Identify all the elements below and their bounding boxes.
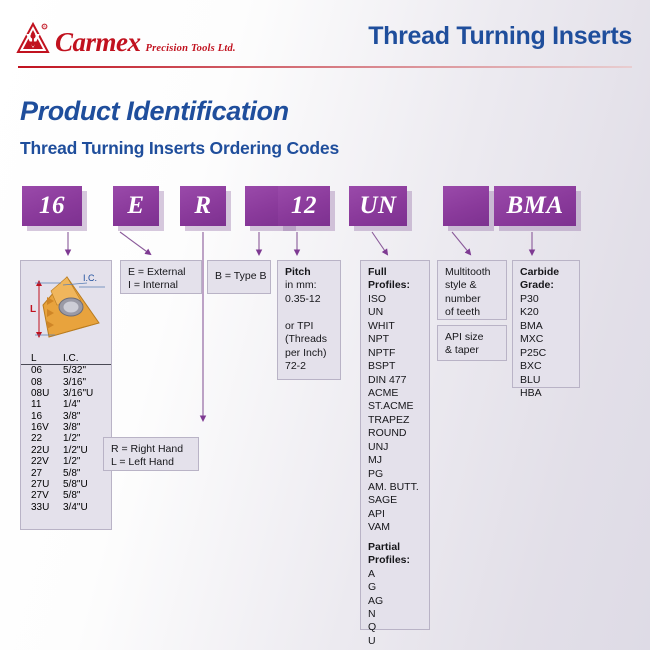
table-row: 08U3/16"U <box>21 388 111 399</box>
ic-row-ic: 3/16" <box>57 376 111 387</box>
carmex-triangle-logo-icon: R <box>16 22 50 56</box>
multitooth-line: style & <box>445 279 500 292</box>
profiles-partial-title-1: Partial <box>368 541 423 554</box>
header-divider <box>18 66 632 68</box>
code-box-pitch[interactable]: 12 <box>278 186 330 226</box>
ic-row-ic: 3/4"U <box>57 502 111 513</box>
partial-profile-item: AG <box>368 595 423 608</box>
full-profile-item: ACME <box>368 387 423 400</box>
hand-type-line-1: E = External <box>128 266 195 279</box>
pitch-line: or TPI <box>285 320 334 333</box>
detail-box-direction: R = Right Hand L = Left Hand <box>103 437 199 471</box>
ic-row-l: 27 <box>21 467 57 478</box>
ic-row-ic: 3/16"U <box>57 388 111 399</box>
svg-text:I.C.: I.C. <box>83 273 97 283</box>
code-box-size[interactable]: 16 <box>22 186 82 226</box>
table-row: 27V5/8" <box>21 490 111 501</box>
detail-box-hand-type: E = External I = Internal <box>120 260 202 294</box>
carmex-logo: R Carmex Precision Tools Ltd. <box>16 22 236 56</box>
page-header: R Carmex Precision Tools Ltd. Thread Tur… <box>0 0 650 72</box>
direction-line-1: R = Right Hand <box>111 443 192 456</box>
profiles-partial-title-2: Profiles: <box>368 554 423 567</box>
ic-row-l: 27V <box>21 490 57 501</box>
full-profile-item: AM. BUTT. <box>368 481 423 494</box>
code-box-hand-type[interactable]: E <box>113 186 159 226</box>
full-profile-item: API <box>368 508 423 521</box>
ic-row-l: 06 <box>21 365 57 377</box>
multitooth-line: Multitooth <box>445 266 500 279</box>
hand-type-line-2: I = Internal <box>128 279 195 292</box>
table-row: 111/4" <box>21 399 111 410</box>
brand-subtitle: Precision Tools Ltd. <box>146 44 236 57</box>
code-box-profile[interactable]: UN <box>349 186 407 226</box>
api-line: & taper <box>445 344 500 357</box>
header-title: Thread Turning Inserts <box>368 22 632 51</box>
carbide-title-2: Grade: <box>520 279 573 292</box>
ic-row-l: 08 <box>21 376 57 387</box>
full-profile-item: PG <box>368 468 423 481</box>
insert-dimension-box: L I.C. L I.C. 065/32"083/16"08U3/16"U111… <box>20 260 112 530</box>
carbide-grade-item: MXC <box>520 333 573 346</box>
page-subtitle: Thread Turning Inserts Ordering Codes <box>20 138 339 159</box>
full-profile-item: WHIT <box>368 320 423 333</box>
ic-table-header-row: L I.C. <box>21 353 111 365</box>
table-row: 083/16" <box>21 376 111 387</box>
table-row: 163/8" <box>21 411 111 422</box>
api-line: API size <box>445 331 500 344</box>
partial-profile-item: U <box>368 635 423 648</box>
full-profile-item: NPT <box>368 333 423 346</box>
ic-row-ic: 3/8" <box>57 422 111 433</box>
table-row: 275/8" <box>21 467 111 478</box>
full-profile-item: VAM <box>368 521 423 534</box>
detail-box-type-b: B = Type B <box>207 260 271 294</box>
insert-figure: L I.C. <box>21 261 111 353</box>
pitch-line: (Threads <box>285 333 334 346</box>
carbide-grade-item: BMA <box>520 320 573 333</box>
full-profile-item: TRAPEZ <box>368 414 423 427</box>
full-profile-item: SAGE <box>368 494 423 507</box>
carbide-grade-item: K20 <box>520 306 573 319</box>
carbide-grade-item: P25C <box>520 347 573 360</box>
carbide-grade-item: HBA <box>520 387 573 400</box>
pitch-title: Pitch <box>285 266 334 279</box>
partial-profile-item: G <box>368 581 423 594</box>
ic-table-header-ic: I.C. <box>57 353 111 365</box>
ic-row-l: 22U <box>21 445 57 456</box>
full-profile-item: ST.ACME <box>368 400 423 413</box>
full-profile-item: DIN 477 <box>368 374 423 387</box>
multitooth-line: of teeth <box>445 306 500 319</box>
pitch-line: 72-2 <box>285 360 334 373</box>
pitch-line <box>285 306 334 319</box>
code-box-direction[interactable]: R <box>180 186 226 226</box>
carbide-grade-item: P30 <box>520 293 573 306</box>
ic-row-l: 08U <box>21 388 57 399</box>
ic-row-ic: 5/8"U <box>57 479 111 490</box>
full-profile-item: BSPT <box>368 360 423 373</box>
ic-table-header-l: L <box>21 353 57 365</box>
ic-row-l: 27U <box>21 479 57 490</box>
full-profile-item: ISO <box>368 293 423 306</box>
full-profile-item: UNJ <box>368 441 423 454</box>
profiles-full-title-1: Full <box>368 266 423 279</box>
pitch-line: per Inch) <box>285 347 334 360</box>
detail-box-profiles: Full Profiles: ISOUNWHITNPTNPTFBSPTDIN 4… <box>360 260 430 630</box>
code-box-carbide[interactable]: BMA <box>494 186 576 226</box>
ic-row-ic: 3/8" <box>57 411 111 422</box>
full-profile-item: UN <box>368 306 423 319</box>
pitch-line: 0.35-12 <box>285 293 334 306</box>
full-profile-item: MJ <box>368 454 423 467</box>
ic-row-l: 16 <box>21 411 57 422</box>
partial-profile-item: N <box>368 608 423 621</box>
page-root: R Carmex Precision Tools Ltd. Thread Tur… <box>0 0 650 650</box>
pitch-line: in mm: <box>285 279 334 292</box>
table-row: 22U1/2"U <box>21 445 111 456</box>
partial-profile-item: A <box>368 568 423 581</box>
carbide-grade-item: BXC <box>520 360 573 373</box>
direction-line-2: L = Left Hand <box>111 456 192 469</box>
ic-row-l: 16V <box>21 422 57 433</box>
code-box-multitooth[interactable] <box>443 186 489 226</box>
multitooth-line: number <box>445 293 500 306</box>
ic-row-ic: 5/32" <box>57 365 111 377</box>
svg-text:L: L <box>30 304 36 315</box>
profiles-full-title-2: Profiles: <box>368 279 423 292</box>
table-row: 16V3/8" <box>21 422 111 433</box>
partial-profile-item: Q <box>368 621 423 634</box>
brand-name: Carmex <box>55 29 141 56</box>
full-profile-item: ROUND <box>368 427 423 440</box>
ic-row-l: 11 <box>21 399 57 410</box>
ic-row-l: 33U <box>21 502 57 513</box>
carbide-title-1: Carbide <box>520 266 573 279</box>
ic-row-ic: 1/4" <box>57 399 111 410</box>
table-row: 221/2" <box>21 433 111 444</box>
table-row: 065/32" <box>21 365 111 377</box>
table-row: 22V1/2" <box>21 456 111 467</box>
table-row: 27U5/8"U <box>21 479 111 490</box>
ic-size-table: L I.C. 065/32"083/16"08U3/16"U111/4"163/… <box>21 353 111 513</box>
full-profile-item: NPTF <box>368 347 423 360</box>
detail-box-pitch: Pitch in mm:0.35-12 or TPI(Threadsper In… <box>277 260 341 380</box>
ic-row-l: 22V <box>21 456 57 467</box>
detail-box-api: API size& taper <box>437 325 507 361</box>
ic-row-l: 22 <box>21 433 57 444</box>
ic-row-ic: 5/8" <box>57 490 111 501</box>
page-title: Product Identification <box>20 96 289 127</box>
carbide-grade-item: BLU <box>520 374 573 387</box>
type-b-line-1: B = Type B <box>215 270 266 283</box>
detail-box-multitooth: Multitoothstyle &numberof teeth <box>437 260 507 320</box>
detail-box-carbide: Carbide Grade: P30K20BMAMXCP25CBXCBLUHBA <box>512 260 580 388</box>
table-row: 33U3/4"U <box>21 502 111 513</box>
